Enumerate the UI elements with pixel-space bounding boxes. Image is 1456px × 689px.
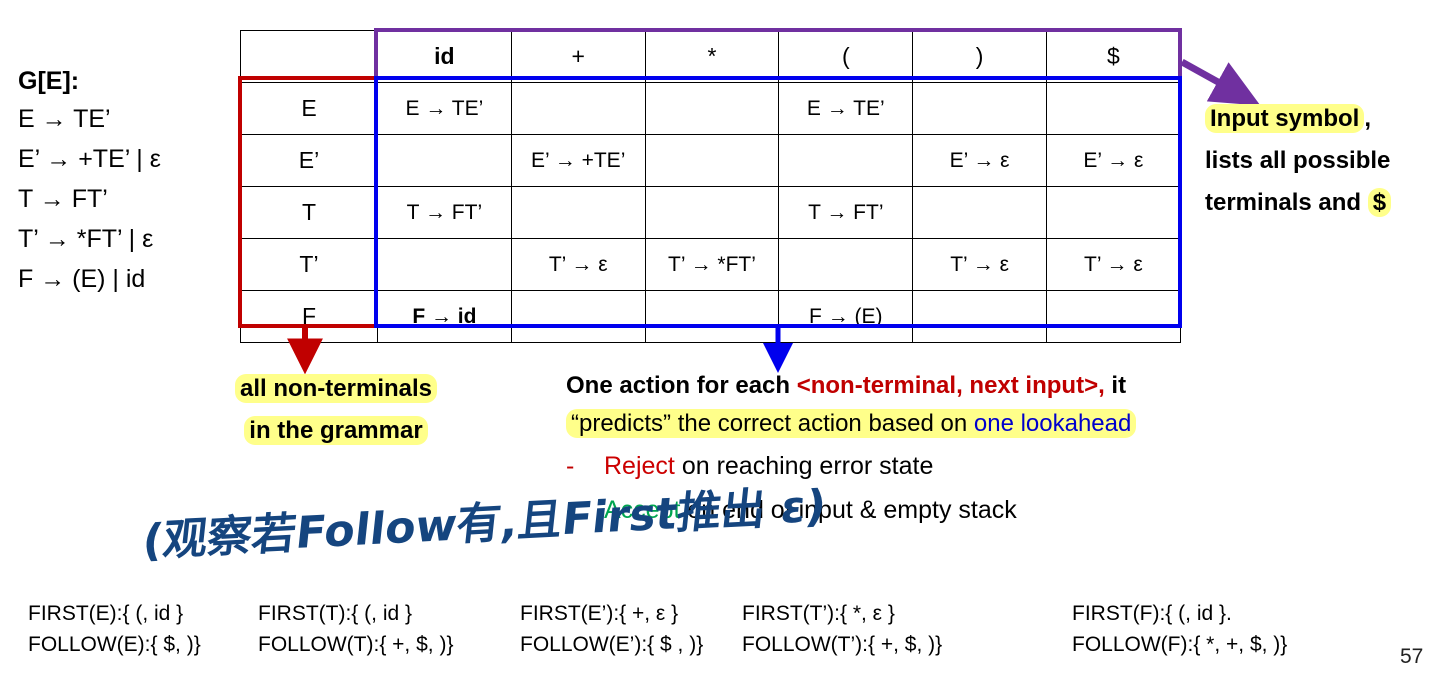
handwritten-note: (观察若Follow有,且First推出 ε) bbox=[140, 505, 660, 590]
input-symbol-line-1: Input symbol, bbox=[1205, 98, 1456, 140]
dollar-highlight: $ bbox=[1368, 188, 1391, 217]
nonterminals-line-1-text: all non-terminals bbox=[235, 374, 437, 403]
header-row-highlight-box bbox=[374, 28, 1182, 80]
grammar-rule-5: F → (E) | id bbox=[18, 259, 233, 299]
handwritten-note-text: (观察若Follow有,且First推出 ε) bbox=[140, 470, 830, 569]
follow-set-Eprime: FOLLOW(E’):{ $ , )} bbox=[520, 629, 703, 660]
input-symbol-line-2: lists all possible bbox=[1205, 140, 1456, 182]
first-follow-group-T: FIRST(T):{ (, id } FOLLOW(T):{ +, $, )} bbox=[258, 598, 453, 660]
follow-set-F: FOLLOW(F):{ *, +, $, )} bbox=[1072, 629, 1287, 660]
grammar-rule-3: T → FT’ bbox=[18, 179, 233, 219]
grammar-rule-2: E’ → +TE’ | ε bbox=[18, 139, 233, 179]
description-lookahead: one lookahead bbox=[974, 410, 1131, 437]
grammar-title: G[E]: bbox=[18, 63, 233, 99]
description-line-2: “predicts” the correct action based on o… bbox=[566, 404, 1396, 444]
follow-set-E: FOLLOW(E):{ $, )} bbox=[28, 629, 201, 660]
follow-set-Tprime: FOLLOW(T’):{ +, $, )} bbox=[742, 629, 942, 660]
nonterminals-annotation: all non-terminals in the grammar bbox=[186, 368, 486, 452]
description-line-1: One action for each <non-terminal, next … bbox=[566, 368, 1396, 404]
first-follow-group-F: FIRST(F):{ (, id }. FOLLOW(F):{ *, +, $,… bbox=[1072, 598, 1287, 660]
follow-set-T: FOLLOW(T):{ +, $, )} bbox=[258, 629, 453, 660]
description-pair-red: <non-terminal, next input>, bbox=[797, 372, 1105, 399]
first-set-Eprime: FIRST(E’):{ +, ε } bbox=[520, 598, 703, 629]
input-symbol-line-3: terminals and $ bbox=[1205, 182, 1456, 224]
input-symbol-highlight: Input symbol bbox=[1205, 104, 1364, 133]
first-set-F: FIRST(F):{ (, id }. bbox=[1072, 598, 1287, 629]
first-set-Tprime: FIRST(T’):{ *, ε } bbox=[742, 598, 942, 629]
first-follow-group-Tprime: FIRST(T’):{ *, ε } FOLLOW(T’):{ +, $, )} bbox=[742, 598, 942, 660]
description-line-1-post: it bbox=[1105, 372, 1126, 399]
nonterminals-line-1: all non-terminals bbox=[186, 368, 486, 410]
nonterminals-line-2-text: in the grammar bbox=[244, 416, 427, 445]
description-line-1-pre: One action for each bbox=[566, 372, 797, 399]
first-follow-group-E: FIRST(E):{ (, id } FOLLOW(E):{ $, )} bbox=[28, 598, 201, 660]
action-cells-highlight-box bbox=[374, 76, 1182, 328]
slide-number: 57 bbox=[1400, 645, 1423, 669]
input-symbol-comma: , bbox=[1364, 105, 1371, 132]
input-symbol-line-3-pre: terminals and bbox=[1205, 189, 1368, 216]
nonterminal-column-highlight-box bbox=[238, 76, 378, 328]
first-follow-group-Eprime: FIRST(E’):{ +, ε } FOLLOW(E’):{ $ , )} bbox=[520, 598, 703, 660]
description-line-2-pre: “predicts” the correct action based on bbox=[571, 410, 974, 437]
input-symbol-annotation: Input symbol, lists all possible termina… bbox=[1205, 98, 1456, 224]
table-corner-cell bbox=[241, 31, 378, 83]
first-set-E: FIRST(E):{ (, id } bbox=[28, 598, 201, 629]
grammar-rule-4: T’ → *FT’ | ε bbox=[18, 219, 233, 259]
nonterminals-line-2: in the grammar bbox=[186, 410, 486, 452]
grammar-rule-1: E → TE’ bbox=[18, 99, 233, 139]
reject-keyword: Reject bbox=[604, 452, 675, 480]
first-set-T: FIRST(T):{ (, id } bbox=[258, 598, 453, 629]
description-line-2-highlight: “predicts” the correct action based on o… bbox=[566, 409, 1136, 438]
grammar-block: G[E]: E → TE’ E’ → +TE’ | ε T → FT’ T’ →… bbox=[18, 63, 233, 299]
